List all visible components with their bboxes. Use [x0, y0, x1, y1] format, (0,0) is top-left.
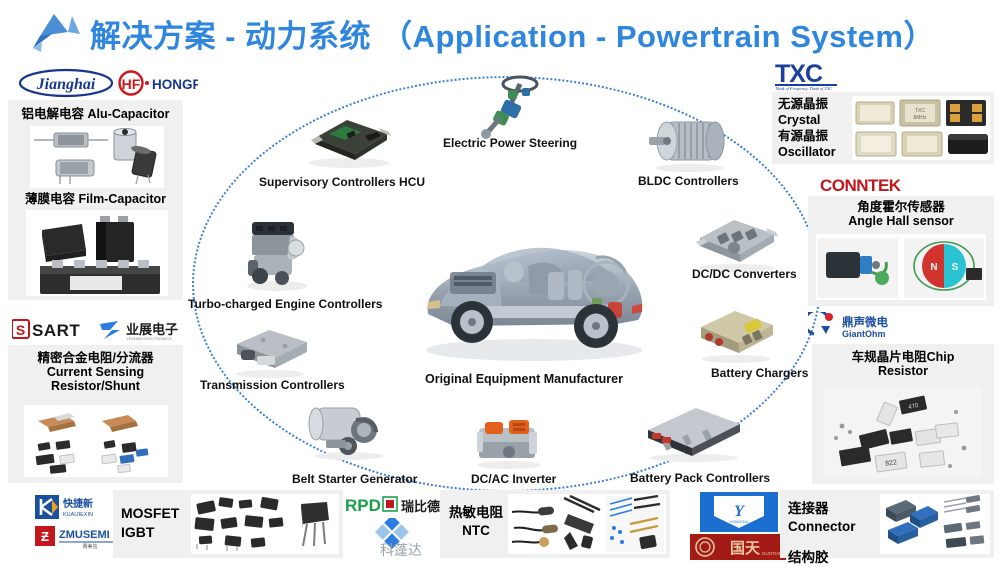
svg-text:HONGFA: HONGFA	[152, 77, 198, 92]
chip-resistor-title-en: Resistor	[812, 364, 994, 378]
crystal-oscillator-parts-photo-icon: TXC 8MHz	[852, 96, 990, 160]
svg-text:瑞比德: 瑞比德	[401, 499, 440, 514]
structural-adhesive-line-cn: 结构胶	[788, 549, 856, 567]
crystal-line-0: 无源晶振	[778, 96, 848, 112]
mosfet-line-0: MOSFET	[121, 504, 179, 523]
node-label-bldc: BLDC Controllers	[638, 174, 739, 188]
turbo-engine-photo-icon	[238, 212, 316, 292]
page-title-en: （Application - Powertrain System）	[381, 19, 935, 54]
mosfet-lines: MOSFET IGBT	[121, 504, 179, 542]
brand-kepengda: 科蓬达	[360, 518, 442, 558]
brand-kuaijiexin: 快捷新 KUAIJIEXIN	[35, 494, 121, 520]
hall-sensor-title-en: Angle Hall sensor	[808, 214, 994, 228]
node-label-turbo: Turbo-charged Engine Controllers	[188, 297, 382, 311]
mosfet-line-1: IGBT	[121, 523, 179, 542]
dcac-inverter-photo-icon	[467, 412, 551, 470]
svg-text:科蓬达: 科蓬达	[380, 542, 422, 558]
film-capacitors-photo-icon	[26, 210, 168, 296]
connector-line-en: Connector	[788, 518, 856, 536]
ntc-line-1: NTC	[446, 522, 506, 540]
panel-hall-sensor: 角度霍尔传感器 Angle Hall sensor N S	[808, 196, 994, 306]
svg-text:TXC: TXC	[915, 108, 925, 114]
brand-yezhan: 业展电子 YEZHAN ELECTRONICS	[98, 318, 184, 342]
svg-text:S: S	[16, 322, 25, 338]
page-title-cn: 解决方案 - 动力系统	[90, 19, 371, 54]
node-label-bsg: Belt Starter Generator	[292, 472, 417, 486]
connector-line-cn: 连接器	[788, 500, 856, 518]
svg-text:S: S	[952, 262, 959, 273]
chip-resistor-title-cn: 车规晶片电阻Chip	[812, 350, 994, 364]
connector-assembly-photo-icon	[880, 494, 990, 554]
svg-text:Jianghai: Jianghai	[36, 76, 96, 93]
svg-text:ZMUSEMI: ZMUSEMI	[59, 529, 110, 541]
hall-sensor-title: 角度霍尔传感器 Angle Hall sensor	[808, 200, 994, 228]
obc-charger-photo-icon	[693, 305, 779, 365]
svg-text:HF: HF	[122, 76, 141, 92]
connector-lines: 连接器 Connector 结构胶	[788, 500, 856, 567]
brand-yonggui: Y YONGGUI	[700, 492, 778, 532]
mosfet-igbt-packages-photo-icon	[191, 494, 339, 554]
svg-text:N: N	[930, 262, 937, 273]
ntc-thermistor-probes-photo-icon	[508, 494, 666, 554]
brand-giantohm: 鼎声微电 GiantOhm	[808, 312, 918, 342]
crystal-lines: 无源晶振 Crystal 有源晶振 Oscillator	[778, 96, 848, 160]
tcu-module-photo-icon	[227, 322, 313, 380]
svg-text:8MHz: 8MHz	[913, 115, 927, 121]
panel-capacitors: 铝电解电容 Alu-Capacitor	[8, 100, 183, 300]
brand-rpd: RPD 瑞比德	[345, 494, 441, 516]
shunt-title-cn: 精密合金电阻/分流器	[8, 351, 183, 365]
panel-ntc: 热敏电阻 NTC	[440, 490, 670, 558]
panel-current-sensing: 精密合金电阻/分流器 Current Sensing Resistor/Shun…	[8, 345, 183, 483]
node-label-transmission: Transmission Controllers	[200, 378, 345, 392]
brand-hongfa: HF HONGFA	[118, 70, 198, 96]
eps-steering-column-photo-icon	[476, 72, 554, 144]
node-label-dcdc: DC/DC Converters	[692, 267, 797, 281]
brand-sart: S SART	[12, 318, 96, 340]
svg-text:鼎声微电: 鼎声微电	[842, 315, 888, 329]
ntc-lines: 热敏电阻 NTC	[446, 504, 506, 540]
chip-resistor-photo-icon: 470 822	[824, 386, 982, 478]
bsg-motor-photo-icon	[306, 398, 392, 462]
angle-hall-sensor-photo-icon: N S	[816, 234, 986, 300]
alu-capacitor-title-en: Alu-Capacitor	[88, 107, 170, 121]
page-title: 解决方案 - 动力系统（Application - Powertrain Sys…	[90, 11, 935, 56]
triangle-arrow-logo-icon	[28, 12, 84, 54]
dcdc-converter-photo-icon	[690, 212, 782, 274]
battery-pack-photo-icon	[640, 402, 748, 464]
svg-text:YEZHAN ELECTRONICS: YEZHAN ELECTRONICS	[126, 336, 172, 341]
panel-current-sensing-title: 精密合金电阻/分流器 Current Sensing Resistor/Shun…	[8, 351, 183, 393]
svg-text:快捷新: 快捷新	[62, 497, 93, 510]
node-label-oem: Original Equipment Manufacturer	[425, 372, 623, 386]
brand-jianghai: Jianghai	[18, 68, 114, 98]
crystal-line-2: 有源晶振	[778, 128, 848, 144]
shunt-title-en-1: Current Sensing	[8, 365, 183, 379]
chip-resistor-title: 车规晶片电阻Chip Resistor	[812, 350, 994, 378]
brand-conntek: CONNTEK	[820, 174, 924, 196]
node-label-battery-pack: Battery Pack Controllers	[630, 471, 770, 485]
bldc-motor-photo-icon	[645, 112, 731, 174]
panel-connector: 连接器 Connector 结构胶	[780, 490, 994, 558]
panel-chip-resistor: 车规晶片电阻Chip Resistor 470 822	[812, 344, 994, 484]
alu-capacitor-title-cn: 铝电解电容	[22, 107, 85, 121]
node-label-inverter: DC/AC Inverter	[471, 472, 556, 486]
page-title-bar: 解决方案 - 动力系统（Application - Powertrain Sys…	[0, 4, 1000, 62]
svg-text:SART: SART	[32, 321, 80, 340]
node-label-charger: Battery Chargers	[711, 366, 808, 380]
hall-sensor-title-cn: 角度霍尔传感器	[808, 200, 994, 214]
slide-canvas: 解决方案 - 动力系统（Application - Powertrain Sys…	[0, 0, 1000, 562]
crystal-line-1: Crystal	[778, 112, 848, 128]
svg-text:TXC: TXC	[775, 60, 823, 88]
ntc-line-0: 热敏电阻	[446, 504, 506, 522]
svg-text:KUAIJIEXIN: KUAIJIEXIN	[63, 512, 93, 518]
svg-text:RPD: RPD	[345, 496, 381, 515]
shunt-title-en-2: Resistor/Shunt	[8, 379, 183, 393]
panel-mosfet: MOSFET IGBT	[113, 490, 343, 558]
svg-text:Y: Y	[734, 503, 745, 520]
aluminum-electrolytic-capacitors-photo-icon	[30, 126, 164, 188]
svg-text:CONNTEK: CONNTEK	[820, 176, 902, 195]
cutaway-car-photo-icon	[410, 210, 655, 370]
hcu-ecu-module-photo-icon	[303, 108, 396, 170]
svg-text:Ƶ: Ƶ	[41, 529, 49, 544]
panel-capacitors-title-2: 薄膜电容 Film-Capacitor	[8, 192, 183, 206]
film-capacitor-title-cn: 薄膜电容	[25, 192, 75, 206]
brand-guotian: 国天 GUOTIAN	[690, 534, 786, 560]
node-label-hcu: Supervisory Controllers HCU	[259, 175, 425, 189]
brand-txc: TXC Think of Frequency, Think of TXC	[775, 60, 865, 92]
shunt-resistor-photo-icon	[24, 405, 168, 477]
svg-text:业展电子: 业展电子	[126, 322, 178, 337]
svg-text:赛美信: 赛美信	[82, 543, 97, 550]
panel-crystal: 无源晶振 Crystal 有源晶振 Oscillator TXC 8MHz	[772, 92, 994, 164]
panel-capacitors-title-1: 铝电解电容 Alu-Capacitor	[8, 107, 183, 121]
node-label-eps: Electric Power Steering	[443, 136, 577, 150]
svg-text:GiantOhm: GiantOhm	[842, 329, 886, 339]
svg-text:YONGGUI: YONGGUI	[730, 519, 749, 524]
film-capacitor-title-en: Film-Capacitor	[78, 192, 166, 206]
svg-text:国天: 国天	[730, 540, 761, 557]
crystal-line-3: Oscillator	[778, 144, 848, 160]
